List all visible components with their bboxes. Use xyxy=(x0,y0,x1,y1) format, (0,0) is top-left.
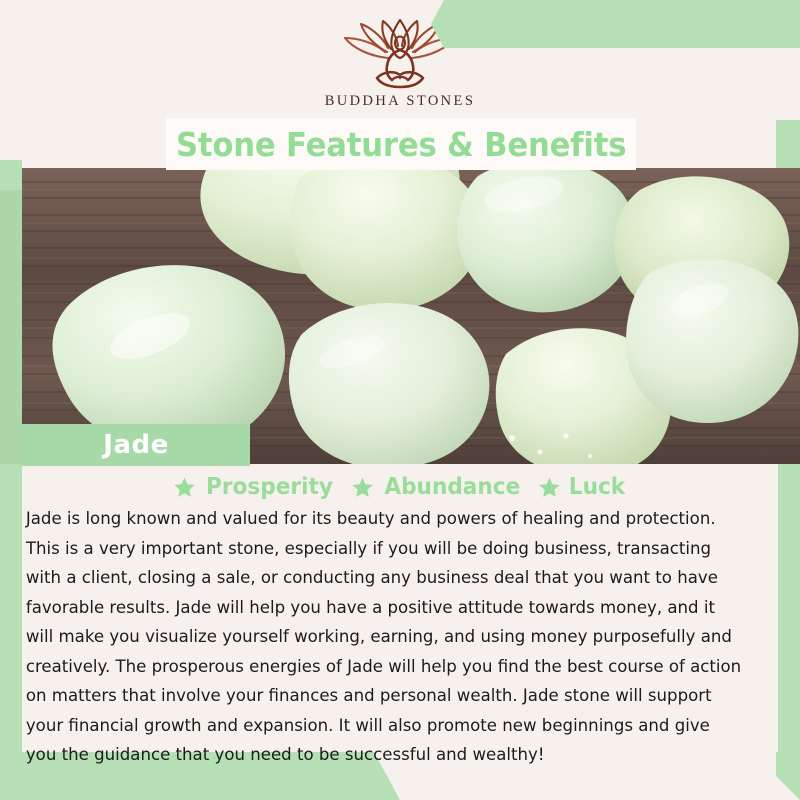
stone-content-panel: Prosperity Abundance Luck Jade is long k… xyxy=(22,464,778,752)
benefit-item: Abundance xyxy=(351,476,525,499)
brand-name: BUDDHA STONES xyxy=(0,93,800,110)
decorative-photo-left-overlay xyxy=(0,190,22,464)
benefit-label: Abundance xyxy=(384,476,520,499)
benefits-list: Prosperity Abundance Luck xyxy=(22,464,778,499)
page-title-banner: Stone Features & Benefits xyxy=(166,118,636,170)
stone-photo-image xyxy=(0,168,800,464)
star-icon xyxy=(173,476,196,499)
decorative-corner-top-right xyxy=(418,0,800,48)
page-title: Stone Features & Benefits xyxy=(176,128,626,161)
stone-name-badge: Jade xyxy=(22,424,250,466)
benefit-label: Prosperity xyxy=(206,476,333,499)
benefit-label: Luck xyxy=(569,476,625,499)
star-icon xyxy=(351,476,374,499)
stone-info-poster: BUDDHA STONES xyxy=(0,0,800,800)
stone-name: Jade xyxy=(103,432,168,458)
benefit-item: Luck xyxy=(538,476,627,499)
benefit-item: Prosperity xyxy=(173,476,337,499)
star-icon xyxy=(538,476,561,499)
stone-photo xyxy=(0,168,800,464)
stone-description: Jade is long known and valued for its be… xyxy=(22,505,752,771)
